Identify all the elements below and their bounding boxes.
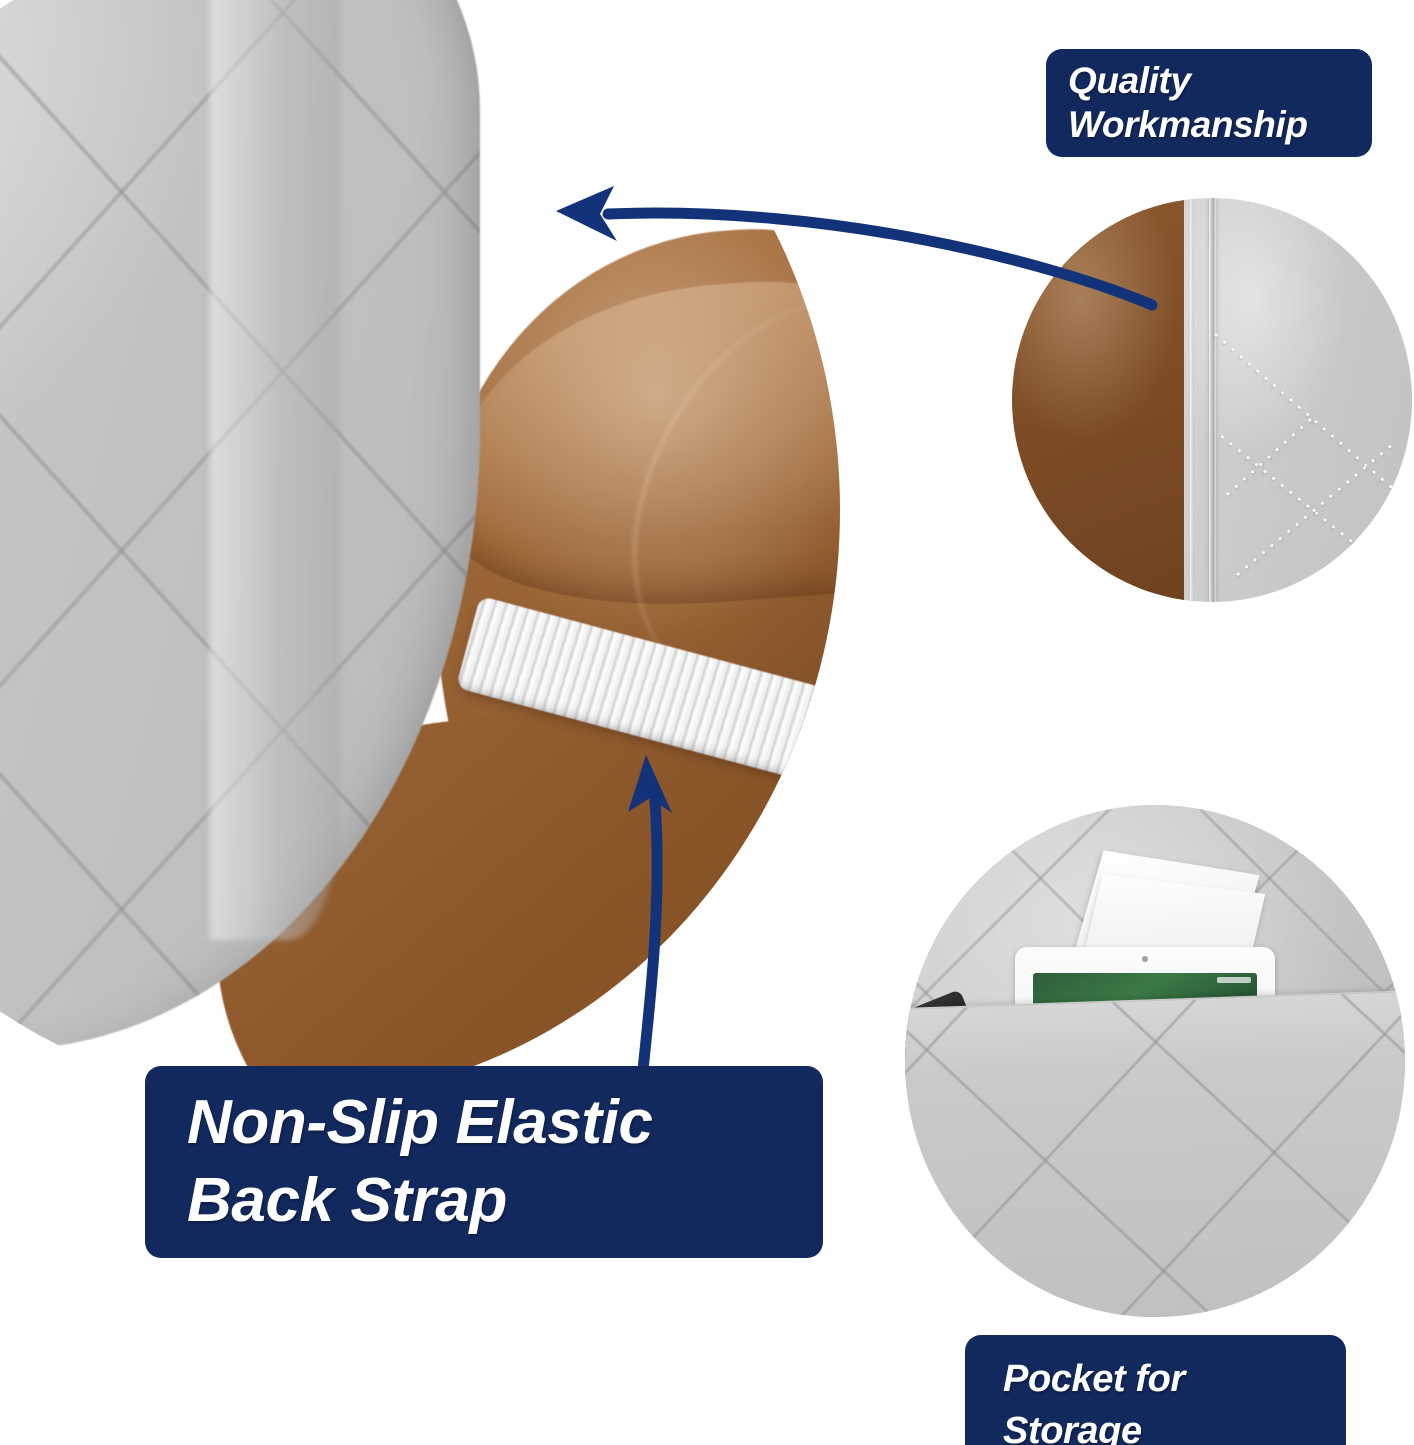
callout-line: Pocket for — [1003, 1353, 1346, 1405]
callout-line: Non-Slip Elastic — [187, 1084, 823, 1162]
main-product-photo-inner — [0, 0, 840, 1100]
detail-quilted-fabric-area — [1184, 198, 1412, 602]
callout-line: Quality — [1068, 59, 1372, 103]
callout-badge-non-slip-elastic-back-strap[interactable]: Non-Slip Elastic Back Strap — [145, 1066, 823, 1258]
product-feature-infographic: Quality Workmanship Non-Slip Elastic Bac… — [0, 0, 1414, 1445]
tablet-camera — [1142, 956, 1148, 962]
quilted-cover-fold-edge — [210, 0, 340, 940]
callout-line: Workmanship — [1068, 103, 1372, 147]
callout-line: Storage — [1003, 1405, 1346, 1445]
detail-seam-line — [1209, 198, 1216, 602]
workmanship-detail-circle — [1012, 198, 1412, 602]
main-product-photo — [0, 0, 840, 1100]
detail-edge-binding — [1190, 198, 1194, 602]
pocket-detail-circle — [905, 805, 1405, 1317]
callout-line: Back Strap — [187, 1162, 823, 1240]
detail-leather-area — [1012, 198, 1184, 602]
tablet-status-bar — [1217, 977, 1251, 983]
pocket-front-panel — [905, 991, 1405, 1317]
callout-badge-quality-workmanship[interactable]: Quality Workmanship — [1046, 49, 1372, 157]
callout-badge-pocket-for-storage[interactable]: Pocket for Storage — [965, 1335, 1346, 1445]
